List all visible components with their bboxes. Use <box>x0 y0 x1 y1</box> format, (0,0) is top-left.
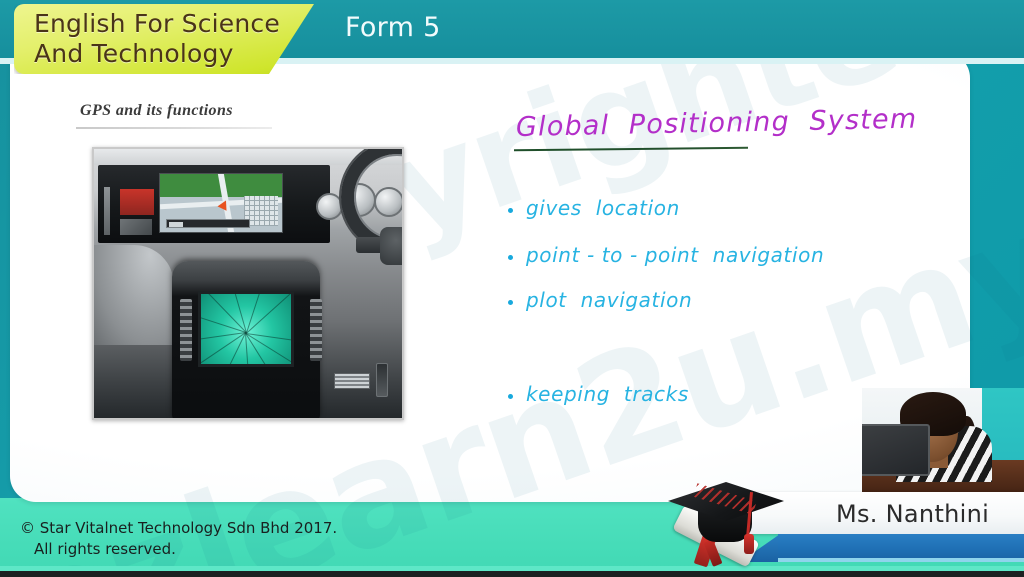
copyright-line-1: © Star Vitalnet Technology Sdn Bhd 2017. <box>20 519 337 537</box>
pedal-wide <box>334 373 370 389</box>
instrument-gauge-small <box>316 193 343 220</box>
slide-stage: copyrighted ezlearn2u.my English For Sci… <box>0 0 1024 577</box>
console-display-screen <box>198 291 294 367</box>
form-level-label: Form 5 <box>345 12 441 43</box>
car-dashboard-gps-image <box>92 147 404 420</box>
bullet-dot-icon <box>508 255 513 260</box>
bullet-dot-icon <box>508 300 513 305</box>
gps-navigation-screen <box>159 173 283 233</box>
presenter-video-tile <box>862 388 1024 500</box>
course-title-line2: And Technology <box>34 39 314 69</box>
pedal-narrow <box>376 363 388 397</box>
console-vent-right <box>310 299 322 361</box>
bullet-dot-icon <box>508 394 513 399</box>
upper-dash-panel <box>98 165 330 243</box>
dash-red-panel <box>120 189 154 215</box>
air-vent-icon <box>104 187 110 235</box>
dashboard-illustration <box>94 149 402 418</box>
name-banner-blue-highlight <box>778 558 1024 562</box>
copyright-line-2: All rights reserved. <box>20 539 337 560</box>
bullet-label: point - to - point navigation <box>526 243 824 267</box>
console-vent-left <box>180 299 192 361</box>
console-display-glow <box>201 294 291 364</box>
copyright-notice: © Star Vitalnet Technology Sdn Bhd 2017.… <box>20 518 337 560</box>
course-title-line1: English For Science <box>34 9 314 39</box>
bullet-dot-icon <box>508 208 513 213</box>
bullet-label: keeping tracks <box>526 382 689 406</box>
map-status-bar <box>166 219 250 228</box>
presenter-laptop <box>862 424 930 476</box>
bottom-dark-strip <box>0 571 1024 577</box>
bullet-label: plot navigation <box>526 288 692 312</box>
dashboard-left-hump <box>94 245 174 345</box>
steering-wheel-hub <box>380 227 404 265</box>
slide-subtitle: GPS and its functions <box>80 102 233 120</box>
dash-grey-panel <box>120 219 152 235</box>
cap-tassel <box>744 534 754 554</box>
bullet-label: gives location <box>526 196 680 220</box>
presenter-name: Ms. Nanthini <box>836 500 989 528</box>
slide-subtitle-divider <box>76 127 272 129</box>
graduation-cap-icon <box>668 478 798 568</box>
course-logo-banner: English For Science And Technology <box>14 4 314 74</box>
